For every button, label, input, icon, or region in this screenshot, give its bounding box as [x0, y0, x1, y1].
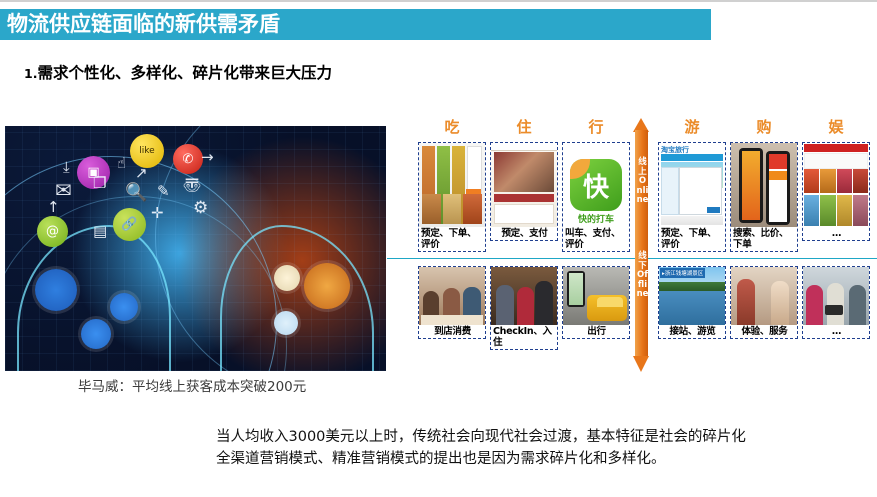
matrix-cell-label: CheckIn、入住	[491, 325, 557, 349]
gear-icon	[35, 269, 77, 311]
matrix-cell-offline-chi[interactable]: 到店消费	[418, 266, 486, 339]
subtitle-number: 1.	[24, 66, 37, 81]
pencil-icon: ✎	[157, 182, 170, 200]
matrix-cell-offline-gou[interactable]: 体验、服务	[730, 266, 798, 339]
matrix-cell-online-xing[interactable]: 快 快的打车 叫车、支付、评价	[562, 142, 630, 252]
photos-icon: ❐	[93, 174, 106, 192]
arrow-up-label: 线上 Online	[636, 158, 649, 206]
screen-icon: ▤	[93, 222, 107, 240]
link-bubble: 🔗	[113, 208, 146, 241]
like-bubble: like	[130, 134, 164, 168]
brain-network-image: like ▣ @ 🔗 ✆ ✉ ⤓ ❐ ☝ 🔍 ✎ 〠 ⚙ ▤ ↑ ↗ ✛ →	[5, 126, 386, 371]
scenic-lake-photo: ▸浙江钱塘湖景区	[659, 267, 725, 325]
link-icon: 🔗	[121, 217, 137, 232]
gear-icon	[304, 263, 350, 309]
arrow-down-offline: 线下 Offline	[633, 238, 650, 374]
at-bubble: @	[37, 216, 68, 247]
matrix-cell-online-yu[interactable]: …	[802, 142, 870, 241]
matrix-cell-online-chi[interactable]: 预定、下单、评价	[418, 142, 486, 252]
matrix-cell-label: 体验、服务	[731, 325, 797, 338]
matrix-cell-offline-you[interactable]: ▸浙江钱塘湖景区 接站、游览	[658, 266, 726, 339]
matrix-header-gou: 购	[730, 116, 798, 137]
download-icon: ⤓	[63, 158, 70, 176]
matrix-cell-online-zhu[interactable]: 预定、支付	[490, 142, 558, 241]
taxi-phone-map-photo	[563, 267, 629, 325]
online-offline-arrow-group: 线上 Online 线下 Offline	[630, 118, 654, 374]
gear-icon	[81, 319, 111, 349]
matrix-cell-label: 预定、下单、评价	[659, 227, 725, 251]
people-dining-photo	[419, 267, 485, 325]
matrix-cell-label: 预定、支付	[491, 227, 557, 240]
friends-tablet-photo	[803, 267, 869, 325]
slide-title-banner: 物流供应链面临的新供需矛盾	[0, 9, 711, 40]
taobao-travel-screenshot: 淘宝旅行	[659, 143, 725, 227]
subtitle-text: 需求个性化、多样化、碎片化带来巨大压力	[37, 64, 332, 82]
matrix-cell-label: 预定、下单、评价	[419, 227, 485, 251]
hotel-checkin-photo	[491, 267, 557, 325]
matrix-cell-offline-xing[interactable]: 出行	[562, 266, 630, 339]
phone-icon: ✆	[183, 152, 194, 167]
matrix-header-yu: 娱	[802, 116, 870, 137]
arrow-down-label: 线下 Offline	[636, 252, 649, 300]
gear-icon	[110, 293, 138, 321]
gear-icon	[274, 311, 298, 335]
matrix-header-chi: 吃	[418, 116, 486, 137]
photo-caption: 毕马威：平均线上获客成本突破200元	[78, 375, 306, 395]
bottom-paragraph-line-2: 全渠道营销模式、精准营销模式的提出也是因为需求碎片化和多样化。	[216, 448, 876, 470]
matrix-cell-online-you[interactable]: 淘宝旅行 预定、下单、评价	[658, 142, 726, 252]
arrow-down-icon	[633, 356, 649, 372]
arrow-right-icon: ↗	[135, 164, 148, 182]
gear-icon: ⚙	[193, 198, 208, 218]
matrix-header-you: 游	[658, 116, 726, 137]
arrow-right-icon: →	[201, 148, 214, 166]
gear-icon	[274, 265, 300, 291]
magnifier-icon: 🔍	[125, 182, 147, 203]
matrix-header-xing: 行	[562, 116, 630, 137]
food-app-screenshot	[419, 143, 485, 227]
matrix-cell-label: 叫车、支付、评价	[563, 227, 629, 251]
top-divider-rule	[0, 0, 877, 2]
bottom-paragraph-line-1: 当人均收入3000美元以上时，传统社会向现代社会过渡，基本特征是社会的碎片化	[216, 426, 876, 448]
matrix-cell-label: 出行	[563, 325, 629, 338]
arrow-up-online: 线上 Online	[633, 118, 650, 258]
matrix-cell-online-gou[interactable]: 搜索、比价、下单	[730, 142, 798, 252]
arrow-up-icon: ↑	[47, 198, 60, 216]
cursor-hand-icon: ☝	[117, 154, 126, 172]
bottom-paragraph: 当人均收入3000美元以上时，传统社会向现代社会过渡，基本特征是社会的碎片化 全…	[216, 426, 876, 470]
matrix-header-zhu: 住	[490, 116, 558, 137]
hotel-website-screenshot	[491, 143, 557, 227]
like-bubble-label: like	[139, 146, 154, 156]
matrix-cell-label: …	[803, 325, 869, 338]
matrix-cell-offline-zhu[interactable]: CheckIn、入住	[490, 266, 558, 350]
slide-subtitle: 1.需求个性化、多样化、碎片化带来巨大压力	[24, 61, 332, 83]
shopping-portal-screenshot	[803, 143, 869, 227]
at-icon: @	[46, 224, 59, 239]
matrix-cell-label: 接站、游览	[659, 325, 725, 338]
matrix-cell-label: …	[803, 227, 869, 240]
taobao-mobile-phones	[731, 143, 797, 227]
page-title: 物流供应链面临的新供需矛盾	[7, 14, 280, 35]
matrix-cell-offline-yu[interactable]: …	[802, 266, 870, 339]
kuaidi-taxi-app-icon: 快 快的打车	[563, 143, 629, 227]
wifi-icon: 〠	[183, 172, 201, 198]
phone-bubble: ✆	[173, 144, 203, 174]
matrix-cell-label: 搜索、比价、下单	[731, 227, 797, 251]
plus-icon: ✛	[151, 204, 164, 222]
matrix-cell-label: 到店消费	[419, 325, 485, 338]
retail-store-photo	[731, 267, 797, 325]
